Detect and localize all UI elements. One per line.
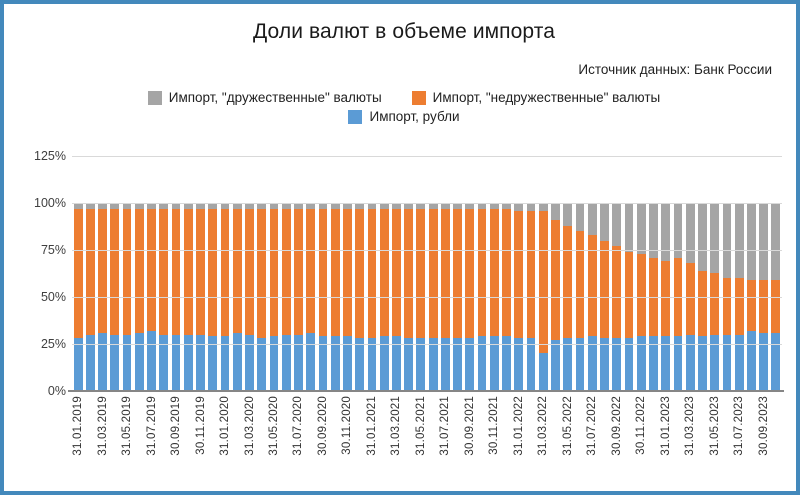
bar-segment bbox=[612, 338, 621, 391]
bar-segment bbox=[698, 203, 707, 271]
bar-segment bbox=[441, 338, 450, 391]
bar-segment bbox=[110, 209, 119, 335]
bar-segment bbox=[551, 340, 560, 391]
bar-segment bbox=[747, 331, 756, 391]
bar-segment bbox=[98, 209, 107, 333]
bar-segment bbox=[429, 338, 438, 391]
bar-segment bbox=[147, 331, 156, 391]
bar-segment bbox=[245, 209, 254, 335]
bar-segment bbox=[698, 271, 707, 337]
bar-segment bbox=[159, 209, 168, 335]
bar-segment bbox=[478, 209, 487, 337]
y-axis-tick-label: 125% bbox=[10, 149, 66, 163]
legend-label-unfriendly: Импорт, "недружественные" валюты bbox=[433, 90, 661, 105]
y-axis: 0%25%50%75%100%125% bbox=[4, 4, 66, 495]
x-axis-tick-label: 31.05.2021 bbox=[415, 396, 427, 456]
bar-segment bbox=[625, 252, 634, 338]
x-axis-tick-label: 31.03.2020 bbox=[244, 396, 256, 456]
bar-segment bbox=[576, 203, 585, 231]
bar-segment bbox=[710, 203, 719, 273]
bar-segment bbox=[723, 278, 732, 334]
bar-segment bbox=[294, 209, 303, 335]
y-axis-tick-label: 50% bbox=[10, 290, 66, 304]
x-axis-tick-label: 31.07.2021 bbox=[439, 396, 451, 456]
bar-segment bbox=[355, 338, 364, 391]
bar-segment bbox=[490, 209, 499, 337]
bar-segment bbox=[172, 209, 181, 335]
bar-segment bbox=[233, 209, 242, 333]
bar-segment bbox=[747, 280, 756, 331]
bar-segment bbox=[441, 209, 450, 339]
bar-segment bbox=[502, 209, 511, 337]
y-axis-tick-label: 0% bbox=[10, 384, 66, 398]
bar-segment bbox=[184, 209, 193, 335]
gridline bbox=[72, 156, 782, 157]
bar-segment bbox=[368, 338, 377, 391]
chart-legend: Импорт, "дружественные" валюты Импорт, "… bbox=[4, 90, 800, 128]
bar-segment bbox=[686, 263, 695, 334]
bar-segment bbox=[380, 209, 389, 337]
bar-segment bbox=[343, 209, 352, 337]
bar-segment bbox=[270, 209, 279, 337]
x-axis-tick-label: 31.03.2021 bbox=[390, 396, 402, 456]
x-axis-tick-label: 31.01.2019 bbox=[72, 396, 84, 456]
bar-segment bbox=[771, 280, 780, 333]
bar-segment bbox=[686, 203, 695, 263]
x-axis-labels: 31.01.201931.03.201931.05.201931.07.2019… bbox=[72, 396, 782, 492]
page-title: Доли валют в объеме импорта bbox=[4, 20, 800, 44]
x-axis-tick-label: 31.05.2023 bbox=[709, 396, 721, 456]
bar-segment bbox=[135, 333, 144, 391]
x-axis-tick-label: 30.11.2020 bbox=[341, 396, 353, 455]
bar-segment bbox=[576, 338, 585, 391]
bar-segment bbox=[306, 333, 315, 391]
y-axis-tick-label: 100% bbox=[10, 196, 66, 210]
bar-segment bbox=[416, 209, 425, 339]
bar-segment bbox=[196, 209, 205, 335]
bar-segment bbox=[123, 209, 132, 335]
bar-segment bbox=[600, 338, 609, 391]
x-axis-tick-label: 31.07.2022 bbox=[586, 396, 598, 456]
bar-segment bbox=[612, 203, 621, 246]
bar-segment bbox=[661, 261, 670, 336]
x-axis-tick-label: 31.05.2019 bbox=[121, 396, 133, 456]
bar-segment bbox=[710, 273, 719, 335]
legend-item-friendly[interactable]: Импорт, "дружественные" валюты bbox=[148, 90, 382, 105]
bar-segment bbox=[759, 333, 768, 391]
bar-segment bbox=[661, 203, 670, 261]
bar-segment bbox=[612, 246, 621, 338]
bar-segment bbox=[759, 280, 768, 333]
bar-segment bbox=[527, 203, 536, 211]
legend-swatch-unfriendly bbox=[412, 91, 426, 105]
bar-segment bbox=[551, 203, 560, 220]
x-axis-tick-label: 30.09.2023 bbox=[758, 396, 770, 456]
bar-segment bbox=[771, 333, 780, 391]
x-axis-tick-label: 30.11.2021 bbox=[488, 396, 500, 455]
bar-segment bbox=[453, 209, 462, 339]
bar-segment bbox=[600, 203, 609, 241]
source-annotation: Источник данных: Банк России bbox=[578, 62, 772, 77]
bar-segment bbox=[257, 209, 266, 339]
bar-segment bbox=[282, 209, 291, 335]
y-axis-tick-label: 25% bbox=[10, 337, 66, 351]
bar-segment bbox=[98, 333, 107, 391]
bar-segment bbox=[514, 211, 523, 339]
bar-segment bbox=[368, 209, 377, 339]
bar-segment bbox=[429, 209, 438, 339]
x-axis-tick-label: 31.01.2023 bbox=[660, 396, 672, 456]
x-axis-tick-label: 30.09.2019 bbox=[170, 396, 182, 456]
x-axis-tick-label: 31.05.2022 bbox=[562, 396, 574, 456]
bar-segment bbox=[637, 254, 646, 337]
gridline bbox=[72, 203, 782, 204]
x-axis-tick-label: 31.01.2021 bbox=[366, 396, 378, 456]
y-axis-tick-label: 75% bbox=[10, 243, 66, 257]
legend-swatch-rubles bbox=[348, 110, 362, 124]
bar-segment bbox=[392, 209, 401, 337]
bar-segment bbox=[735, 278, 744, 334]
bar-segment bbox=[514, 203, 523, 211]
bar-segment bbox=[331, 209, 340, 337]
bar-segment bbox=[306, 209, 315, 333]
bar-segment bbox=[625, 203, 634, 252]
bar-segment bbox=[74, 338, 83, 391]
bar-segment bbox=[514, 338, 523, 391]
bar-segment bbox=[747, 203, 756, 280]
x-axis-tick-label: 31.07.2023 bbox=[733, 396, 745, 456]
bar-segment bbox=[563, 338, 572, 391]
bar-segment bbox=[539, 203, 548, 211]
x-axis-tick-label: 30.09.2020 bbox=[317, 396, 329, 456]
bar-segment bbox=[527, 211, 536, 339]
bar-group bbox=[72, 156, 782, 391]
legend-row-top: Импорт, "дружественные" валюты Импорт, "… bbox=[4, 90, 800, 105]
bar-segment bbox=[404, 209, 413, 339]
x-axis-tick-label: 30.09.2021 bbox=[464, 396, 476, 456]
bar-segment bbox=[416, 338, 425, 391]
bar-segment bbox=[637, 203, 646, 254]
x-axis-tick-label: 30.09.2022 bbox=[611, 396, 623, 456]
bar-segment bbox=[74, 209, 83, 339]
legend-label-rubles: Импорт, рубли bbox=[369, 109, 459, 124]
plot-area bbox=[72, 156, 782, 391]
gridline bbox=[72, 250, 782, 251]
bar-segment bbox=[563, 226, 572, 339]
bar-segment bbox=[465, 209, 474, 339]
bar-segment bbox=[135, 209, 144, 333]
bar-segment bbox=[723, 203, 732, 278]
x-axis-tick-label: 31.01.2022 bbox=[513, 396, 525, 456]
bar-segment bbox=[759, 203, 768, 280]
gridline bbox=[72, 344, 782, 345]
bar-segment bbox=[625, 338, 634, 391]
chart-container: Доли валют в объеме импорта Источник дан… bbox=[0, 0, 800, 495]
bar-segment bbox=[208, 209, 217, 337]
bar-segment bbox=[539, 211, 548, 354]
x-axis-tick-label: 31.07.2019 bbox=[146, 396, 158, 456]
bar-segment bbox=[465, 338, 474, 391]
legend-swatch-friendly bbox=[148, 91, 162, 105]
x-axis-tick-label: 31.03.2022 bbox=[537, 396, 549, 456]
bar-segment bbox=[551, 220, 560, 340]
legend-label-friendly: Импорт, "дружественные" валюты bbox=[169, 90, 382, 105]
x-axis-tick-label: 30.11.2022 bbox=[635, 396, 647, 455]
bar-segment bbox=[233, 333, 242, 391]
legend-item-rubles[interactable]: Импорт, рубли bbox=[348, 109, 459, 124]
bar-segment bbox=[600, 241, 609, 339]
bar-segment bbox=[86, 209, 95, 335]
bar-segment bbox=[221, 209, 230, 337]
bar-segment bbox=[147, 209, 156, 331]
legend-row-bottom: Импорт, рубли bbox=[4, 109, 800, 124]
legend-item-unfriendly[interactable]: Импорт, "недружественные" валюты bbox=[412, 90, 661, 105]
bar-segment bbox=[588, 203, 597, 235]
bar-segment bbox=[735, 203, 744, 278]
x-axis-tick-label: 31.01.2020 bbox=[219, 396, 231, 456]
x-axis-line bbox=[68, 390, 784, 392]
bar-segment bbox=[319, 209, 328, 337]
x-axis-tick-label: 31.07.2020 bbox=[292, 396, 304, 456]
bar-segment bbox=[771, 203, 780, 280]
bar-segment bbox=[453, 338, 462, 391]
x-axis-tick-label: 31.05.2020 bbox=[268, 396, 280, 456]
gridline bbox=[72, 297, 782, 298]
bar-segment bbox=[527, 338, 536, 391]
bar-segment bbox=[257, 338, 266, 391]
bar-segment bbox=[355, 209, 364, 339]
bar-segment bbox=[563, 203, 572, 226]
bar-segment bbox=[539, 353, 548, 391]
x-axis-tick-label: 31.03.2023 bbox=[684, 396, 696, 456]
x-axis-tick-label: 30.11.2019 bbox=[195, 396, 207, 455]
x-axis-tick-label: 31.03.2019 bbox=[97, 396, 109, 456]
bar-segment bbox=[404, 338, 413, 391]
bar-segment bbox=[576, 231, 585, 338]
